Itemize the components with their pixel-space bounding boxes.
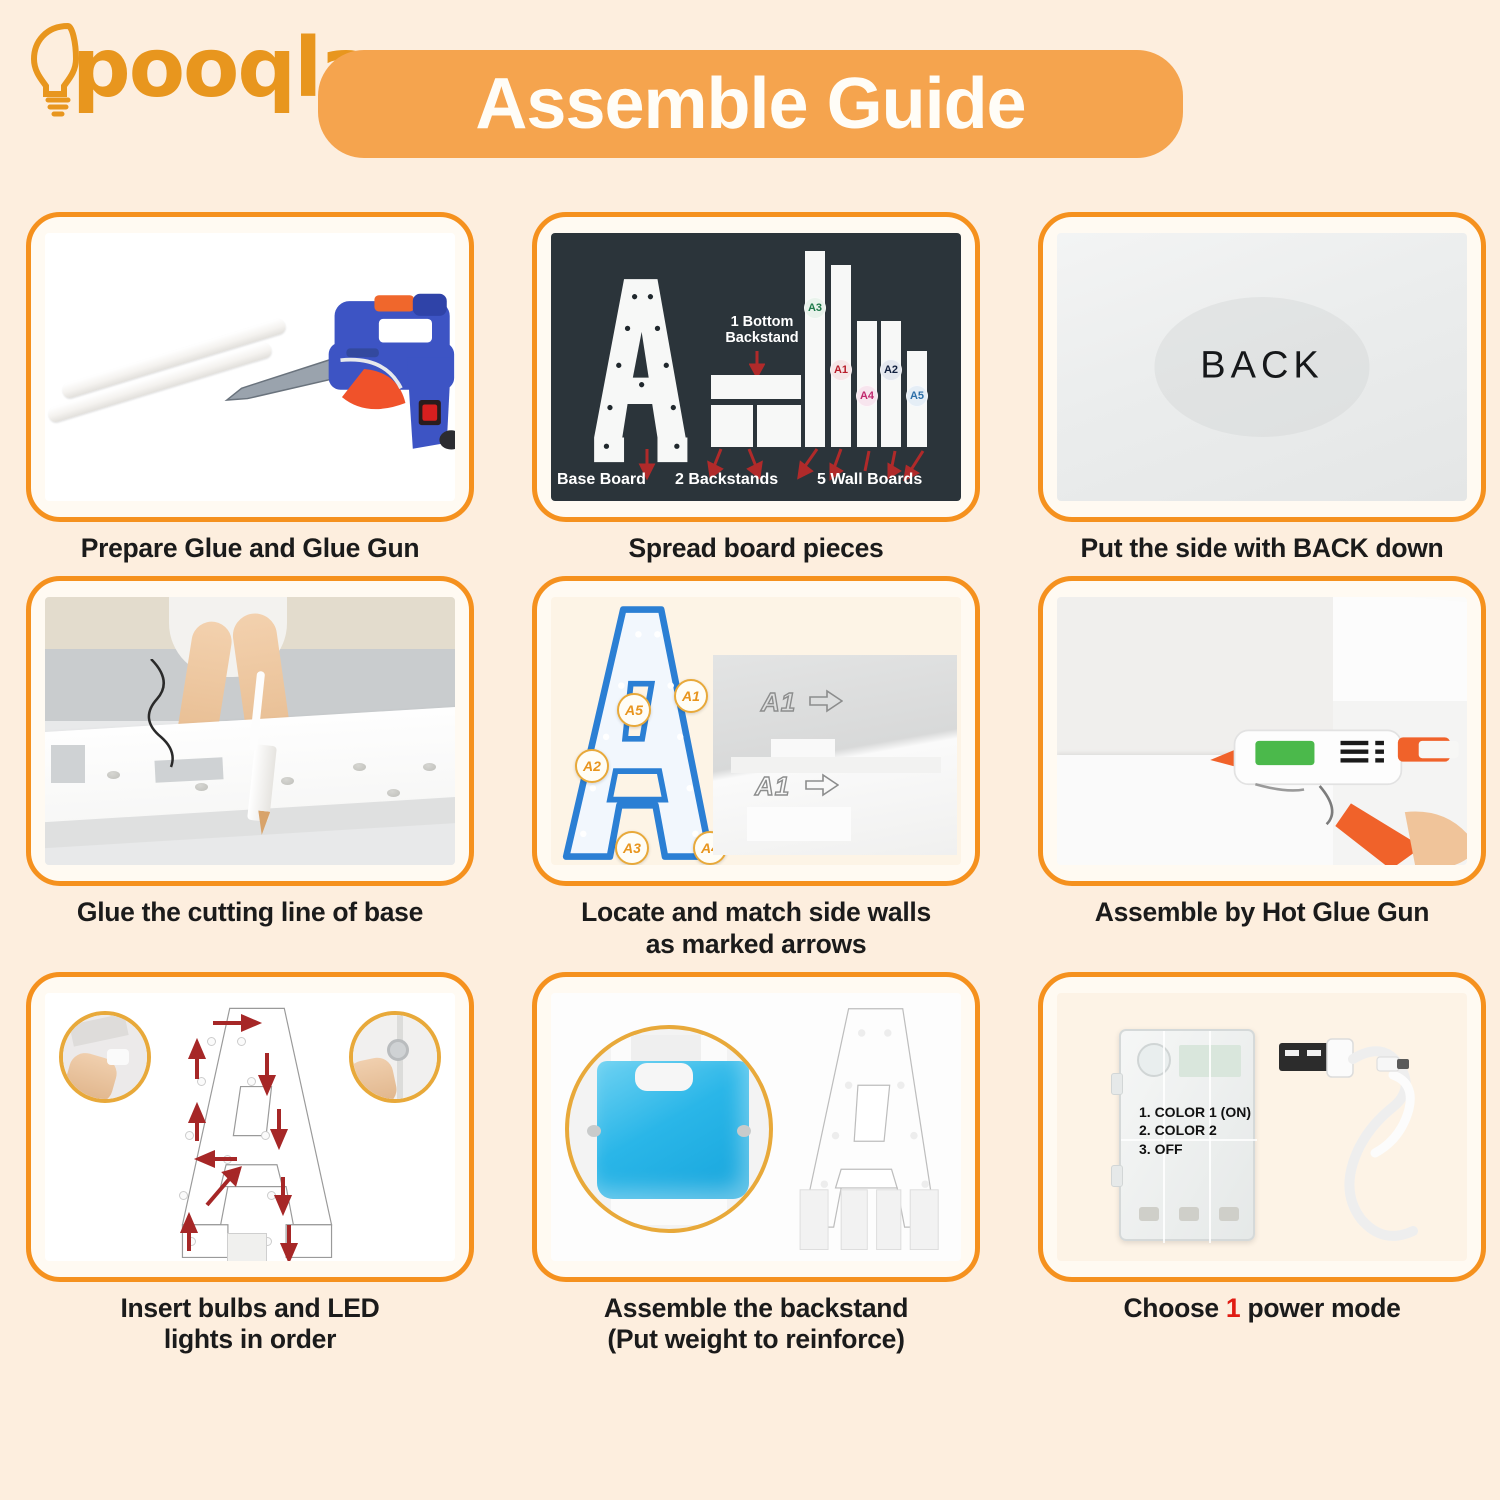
step-caption-9: Choose 1 power mode <box>1027 1282 1497 1324</box>
white-board: BACK <box>1057 233 1467 501</box>
back-label: BACK <box>1200 345 1323 388</box>
step-cell-1: Prepare Glue and Glue Gun <box>26 212 474 564</box>
step-panel-8 <box>532 972 980 1282</box>
step-caption-6: Assemble by Hot Glue Gun <box>1027 886 1497 928</box>
page-header: pooqla Assemble Guide <box>0 0 1500 185</box>
wall-board-a2 <box>881 321 901 447</box>
backstand-board <box>757 405 801 447</box>
power-cord <box>141 659 211 769</box>
step-image-8 <box>551 993 961 1261</box>
battery-box: 1. COLOR 1 (ON) 2. COLOR 2 3. OFF <box>1119 1029 1255 1241</box>
step-caption-7: Insert bulbs and LED lights in order <box>15 1282 485 1356</box>
step9-caption-number: 1 <box>1226 1293 1240 1323</box>
step-panel-2: 1 Bottom Backstand <box>532 212 980 522</box>
steps-grid: Prepare Glue and Glue Gun <box>26 212 1476 1355</box>
board-badge-a2: A2 <box>880 359 902 381</box>
board-badge-a4: A4 <box>856 385 878 407</box>
wall-board-a4 <box>857 321 877 447</box>
step-panel-4 <box>26 576 474 886</box>
blue-glue-gun-icon <box>153 247 455 497</box>
board-badge-a3: A3 <box>804 297 826 319</box>
step-cell-4: Glue the cutting line of base <box>26 576 474 960</box>
step-caption-5: Locate and match side walls as marked ar… <box>521 886 991 960</box>
power-mode-item-1: 1. COLOR 1 (ON) <box>1139 1103 1251 1121</box>
step-image-4 <box>45 597 455 865</box>
page-title: Assemble Guide <box>475 63 1025 145</box>
step-image-5: A1 A5 A2 A3 A4 A1 <box>551 597 961 865</box>
step-cell-2: 1 Bottom Backstand <box>532 212 980 564</box>
step-panel-6 <box>1038 576 1486 886</box>
red-arrow-down-icon <box>749 351 765 377</box>
backstand-board <box>711 375 801 399</box>
label-wall-boards: 5 Wall Boards <box>817 471 922 489</box>
power-mode-item-2: 2. COLOR 2 <box>1139 1121 1251 1139</box>
step-caption-1: Prepare Glue and Glue Gun <box>15 522 485 564</box>
usb-cable-icon <box>1271 1031 1441 1243</box>
board-pieces-photo: 1 Bottom Backstand <box>551 233 961 501</box>
bulb-pack <box>227 1233 267 1261</box>
backstand-board <box>711 405 753 447</box>
step-panel-1 <box>26 212 474 522</box>
step-panel-9: 1. COLOR 1 (ON) 2. COLOR 2 3. OFF <box>1038 972 1486 1282</box>
step-caption-3: Put the side with BACK down <box>1027 522 1497 564</box>
step9-caption-prefix: Choose <box>1123 1293 1225 1323</box>
power-mode-list: 1. COLOR 1 (ON) 2. COLOR 2 3. OFF <box>1139 1103 1251 1158</box>
step-image-1 <box>45 233 455 501</box>
power-switch-button[interactable] <box>1137 1043 1171 1077</box>
inset-photo-water-weight <box>565 1025 773 1233</box>
power-options-photo: 1. COLOR 1 (ON) 2. COLOR 2 3. OFF <box>1057 993 1467 1261</box>
label-backstands: 2 Backstands <box>675 471 778 489</box>
photo-label-a1-top: A1 <box>761 687 796 718</box>
wall-board-a3 <box>805 251 825 447</box>
wall-board-a1 <box>831 265 851 447</box>
step-image-3: BACK <box>1057 233 1467 501</box>
label-bottom-backstand: 1 Bottom Backstand <box>703 315 821 347</box>
photo-label-a1-bottom: A1 <box>755 771 790 802</box>
step-image-2: 1 Bottom Backstand <box>551 233 961 501</box>
step-cell-6: Assemble by Hot Glue Gun <box>1038 576 1486 960</box>
hot-glue-assembly-photo <box>1057 597 1467 865</box>
step-image-6 <box>1057 597 1467 865</box>
board-badge-a1: A1 <box>830 359 852 381</box>
page-title-banner: Assemble Guide <box>318 50 1183 158</box>
board-badge-a5: A5 <box>906 385 928 407</box>
step-caption-8: Assemble the backstand (Put weight to re… <box>521 1282 991 1356</box>
step-caption-2: Spread board pieces <box>521 522 991 564</box>
step-panel-5: A1 A5 A2 A3 A4 A1 <box>532 576 980 886</box>
led-routing-illustration <box>45 993 455 1261</box>
step-cell-8: Assemble the backstand (Put weight to re… <box>532 972 980 1356</box>
right-arrow-icon <box>809 689 843 713</box>
white-glue-gun-icon <box>1205 699 1467 865</box>
inset-photo-led-insert <box>349 1011 441 1103</box>
step-panel-7 <box>26 972 474 1282</box>
right-arrow-icon <box>805 773 839 797</box>
step-cell-7: Insert bulbs and LED lights in order <box>26 972 474 1356</box>
step9-caption-suffix: power mode <box>1240 1293 1400 1323</box>
assemble-guide-page: pooqla Assemble Guide <box>0 0 1500 1500</box>
label-base-board: Base Board <box>557 471 646 489</box>
step-panel-3: BACK <box>1038 212 1486 522</box>
step-image-9: 1. COLOR 1 (ON) 2. COLOR 2 3. OFF <box>1057 993 1467 1261</box>
step-image-7 <box>45 993 455 1261</box>
backstand-illustration <box>551 993 961 1261</box>
step-cell-3: BACK Put the side with BACK down <box>1038 212 1486 564</box>
inset-photo-bulb-insert <box>59 1011 151 1103</box>
step-caption-4: Glue the cutting line of base <box>15 886 485 928</box>
locate-match-illustration: A1 A5 A2 A3 A4 A1 <box>551 597 961 865</box>
side-wall-photo: A1 A1 <box>713 655 957 855</box>
letter-a-backstand <box>787 1001 955 1261</box>
step-cell-5: A1 A5 A2 A3 A4 A1 <box>532 576 980 960</box>
step-cell-9: 1. COLOR 1 (ON) 2. COLOR 2 3. OFF <box>1038 972 1486 1356</box>
power-mode-item-3: 3. OFF <box>1139 1140 1251 1158</box>
gluing-photo <box>45 597 455 865</box>
led-order-arrows <box>145 1001 355 1261</box>
